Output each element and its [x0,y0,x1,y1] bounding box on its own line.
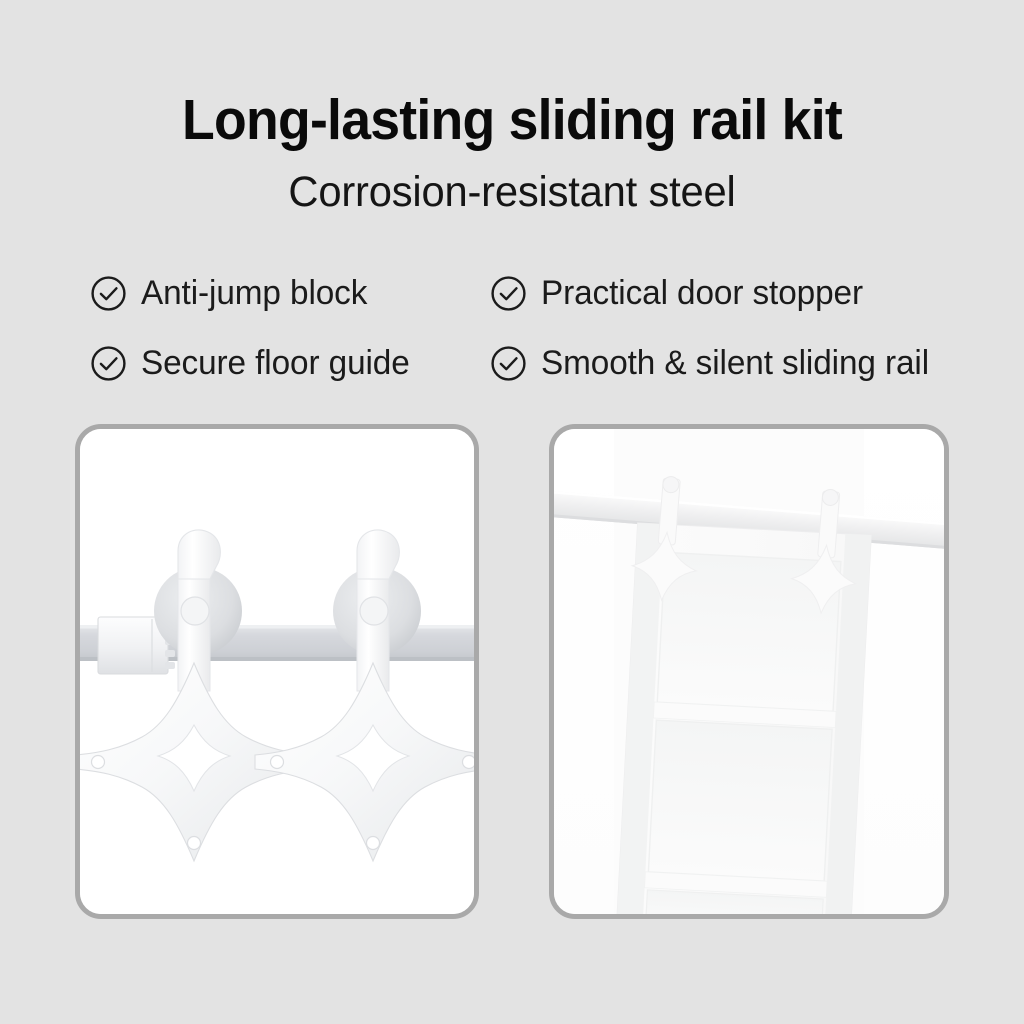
page-title: Long-lasting sliding rail kit [31,0,994,149]
door-panel-lower [648,720,832,881]
check-circle-icon [490,345,527,382]
header-block: Long-lasting sliding rail kit Corrosion-… [0,0,1024,214]
check-circle-icon [490,275,527,312]
feature-item-anti-jump-block: Anti-jump block [90,275,490,312]
hardware-photo-panel [75,424,479,919]
feature-label: Smooth & silent sliding rail [541,346,929,380]
bolt-hole [367,837,380,850]
page-subtitle: Corrosion-resistant steel [15,149,1008,214]
check-circle-icon [90,345,127,382]
bolt-hole [188,837,201,850]
feature-label: Practical door stopper [541,276,863,310]
feature-list: Anti-jump block Practical door stopper S… [90,258,960,398]
feature-label: Secure floor guide [141,346,410,380]
feature-item-practical-door-stopper: Practical door stopper [490,275,950,312]
feature-item-secure-floor-guide: Secure floor guide [90,345,490,382]
bolt-hole [463,756,475,769]
feature-item-smooth-silent-sliding-rail: Smooth & silent sliding rail [490,345,950,382]
installed-barn-door-illustration [554,429,944,914]
installed-door-photo-panel [549,424,949,919]
sliding-rail-hardware-illustration [80,429,474,914]
bolt-hole [271,756,284,769]
bolt-hole [92,756,105,769]
check-circle-icon [90,275,127,312]
axle-bolt [360,597,388,625]
axle-bolt [181,597,209,625]
feature-label: Anti-jump block [141,276,367,310]
